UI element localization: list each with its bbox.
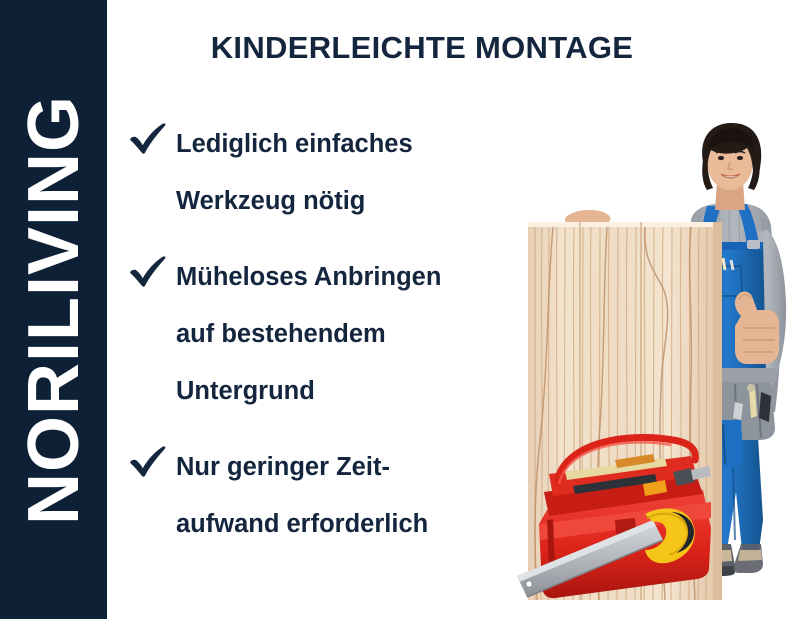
worker-head <box>702 123 761 210</box>
list-item: Müheloses Anbringen auf bestehendem Unte… <box>128 249 508 420</box>
list-item-line: Müheloses Anbringen <box>176 249 508 306</box>
list-item: Nur geringer Zeit- aufwand erforderlich <box>128 439 508 553</box>
page-title: KINDERLEICHTE MONTAGE <box>107 30 737 66</box>
list-item-line: Nur geringer Zeit- <box>176 439 508 496</box>
list-item-line: Werkzeug nötig <box>176 173 508 230</box>
feature-list: Lediglich einfaches Werkzeug nötig Mühel… <box>128 116 508 572</box>
list-item-line: aufwand erforderlich <box>176 496 508 553</box>
supporting-hand <box>565 210 611 224</box>
check-icon <box>128 253 168 289</box>
product-photo <box>495 120 799 619</box>
list-item-line: Lediglich einfaches <box>176 116 508 173</box>
brand-sidebar: NORILIVING <box>0 0 107 619</box>
list-item-text: Lediglich einfaches Werkzeug nötig <box>176 116 508 230</box>
list-item-line: Untergrund <box>176 363 508 420</box>
list-item: Lediglich einfaches Werkzeug nötig <box>128 116 508 230</box>
promo-banner: NORILIVING KINDERLEICHTE MONTAGE Ledigli… <box>0 0 799 619</box>
brand-name: NORILIVING <box>18 94 90 524</box>
list-item-text: Müheloses Anbringen auf bestehendem Unte… <box>176 249 508 420</box>
list-item-line: auf bestehendem <box>176 306 508 363</box>
list-item-text: Nur geringer Zeit- aufwand erforderlich <box>176 439 508 553</box>
check-icon <box>128 443 168 479</box>
check-icon <box>128 120 168 156</box>
